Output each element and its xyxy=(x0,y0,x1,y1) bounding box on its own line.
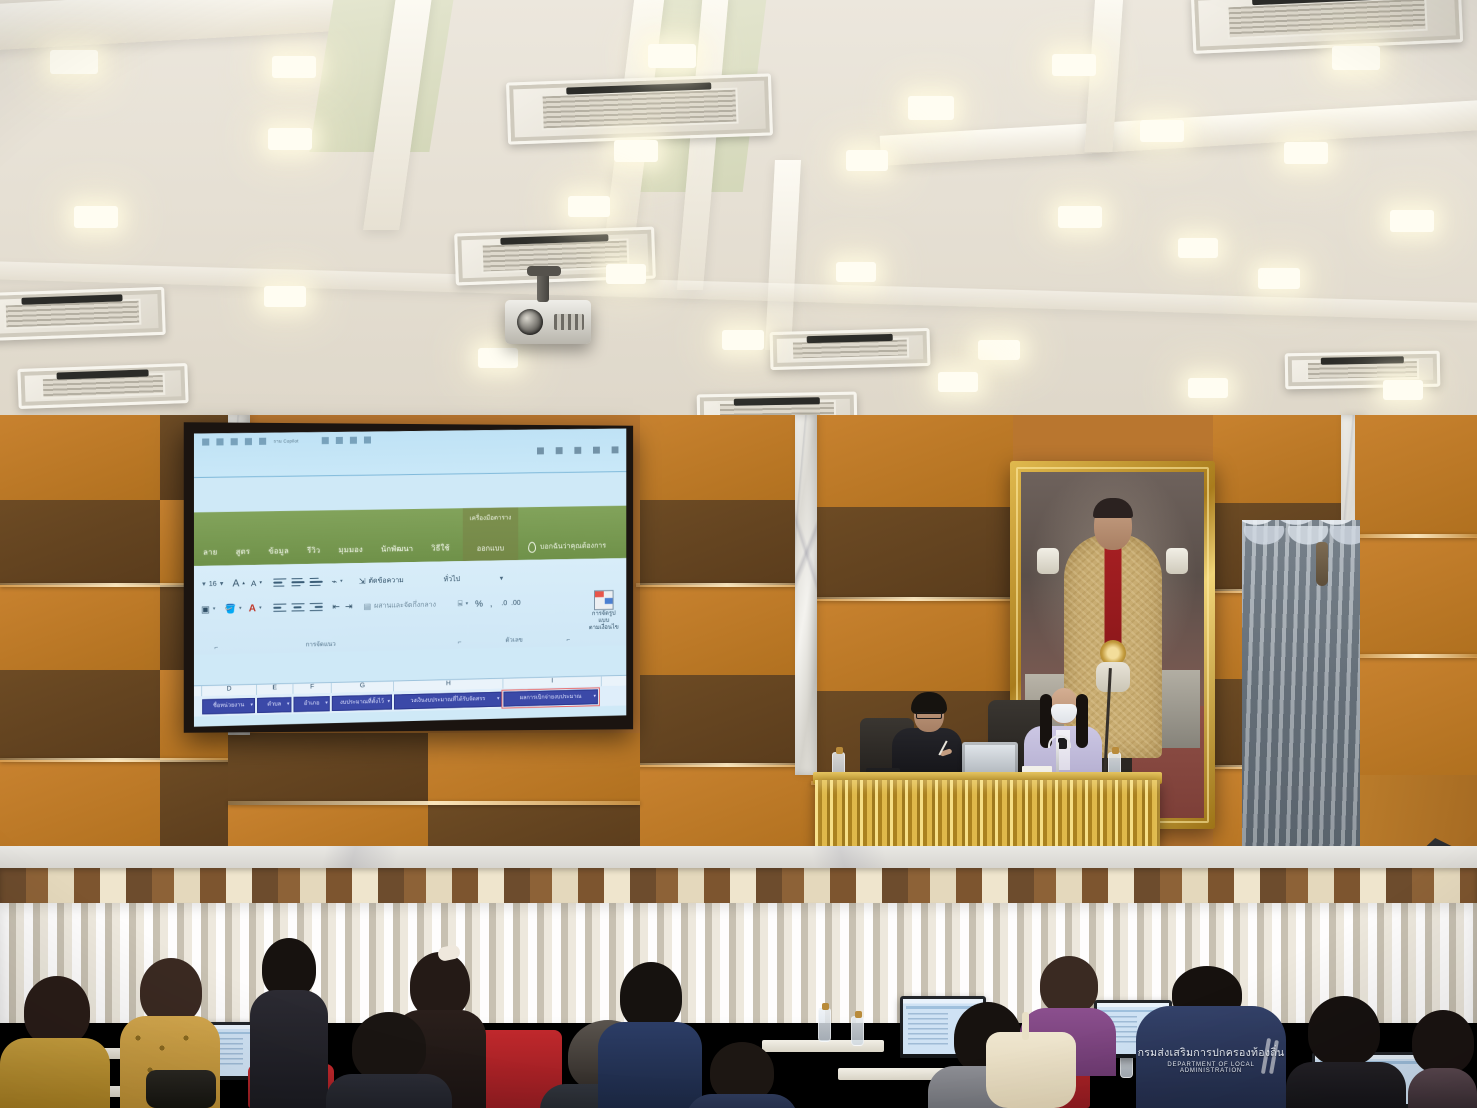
attendee xyxy=(250,938,328,1108)
attendee xyxy=(1408,1010,1477,1108)
presenter-left-hair xyxy=(911,692,947,714)
merge-center-label: ผสานและจัดกึ่งกลาง xyxy=(374,599,436,611)
attendee-head xyxy=(410,952,470,1018)
uniform-thai-label: กรมส่งเสริมการปกครองท้องถิ่น xyxy=(1136,1044,1286,1061)
stage-tile-border xyxy=(0,868,1477,906)
marble-column xyxy=(795,415,817,775)
decrease-decimal-icon[interactable]: .00 xyxy=(511,599,521,606)
font-size-value: 16 xyxy=(209,580,217,587)
tab-design[interactable]: ออกแบบ xyxy=(477,542,504,554)
conditional-formatting-icon xyxy=(594,590,614,610)
autosave-icon[interactable] xyxy=(202,438,209,445)
undo-icon[interactable] xyxy=(231,438,238,445)
attendee xyxy=(326,1012,452,1108)
excel-ribbon-body[interactable]: ▾ 16 ▾ A▴ A▾ ⌁▾ ⇲ ตัดข้อความ ทั่ว xyxy=(194,558,626,655)
settings-icon[interactable] xyxy=(612,446,619,453)
ac-vent-icon xyxy=(770,328,931,370)
attendee xyxy=(1286,996,1406,1108)
cf-label-line2: ตามเงื่อนไข xyxy=(587,624,620,632)
table-tools-label: เครื่องมือตาราง xyxy=(470,512,512,523)
attendee-head xyxy=(140,958,202,1024)
handbag xyxy=(146,1070,216,1108)
tab-developer[interactable]: นักพัฒนา xyxy=(372,543,422,563)
tab-layout[interactable]: ลาย xyxy=(194,546,227,566)
attendee-shoulders xyxy=(250,990,328,1108)
wrap-text-label: ตัดข้อความ xyxy=(368,575,403,587)
border-icon[interactable]: ▣▾ xyxy=(201,604,215,615)
shrink-font-icon[interactable]: A▾ xyxy=(251,578,262,587)
projection-screen-frame: ถาม Copilot ลาย สูตร ข้อมูล xyxy=(184,422,633,733)
attendee-head xyxy=(1412,1010,1474,1074)
curtain-tassel-icon xyxy=(1316,542,1328,586)
align-bottom-icon[interactable] xyxy=(310,576,323,589)
comma-style-icon[interactable]: , xyxy=(490,598,492,608)
gooseneck-microphone xyxy=(1056,742,1059,776)
tell-me-label: บอกฉันว่าคุณต้องการ xyxy=(540,541,606,553)
decrease-indent-icon[interactable]: ⇤ xyxy=(332,601,340,612)
cut-icon[interactable] xyxy=(322,437,329,444)
paste-icon[interactable] xyxy=(350,437,357,444)
search-icon[interactable] xyxy=(537,447,544,454)
styles-group-label: ⌐ xyxy=(567,636,571,643)
attendee-shoulders xyxy=(326,1074,452,1108)
attendee-head xyxy=(620,962,682,1030)
number-format-dropdown[interactable]: ทั่วไป xyxy=(444,574,460,585)
table-header-cell[interactable]: วงเงินงบประมาณที่ได้รับจัดสรร xyxy=(394,691,501,709)
presenter-left xyxy=(890,692,964,782)
attendee-shoulders xyxy=(686,1094,798,1108)
tell-me-search[interactable]: บอกฉันว่าคุณต้องการ xyxy=(528,541,606,560)
conference-room-scene: ถาม Copilot ลาย สูตร ข้อมูล xyxy=(0,0,1477,1108)
tab-help[interactable]: วิธีใช้ xyxy=(422,542,458,562)
grow-font-icon[interactable]: A▴ xyxy=(232,578,244,589)
water-bottle xyxy=(851,1016,864,1046)
ac-vent-icon xyxy=(0,287,166,341)
cf-label-line1: การจัดรูปแบบ xyxy=(587,611,620,626)
ac-vent-icon xyxy=(17,363,188,409)
attendee-head xyxy=(710,1042,774,1102)
increase-decimal-icon[interactable]: .0 xyxy=(501,600,507,607)
eyeglasses-icon xyxy=(916,712,942,719)
projector-lens-icon xyxy=(517,309,543,335)
titlebar-right-icons[interactable] xyxy=(537,446,618,454)
fullscreen-icon[interactable] xyxy=(593,447,600,454)
table-header-cell[interactable]: งบประมาณที่ตั้งไว้ xyxy=(332,694,392,711)
orientation-icon[interactable]: ⌁▾ xyxy=(332,576,343,587)
touch-mode-icon[interactable] xyxy=(259,438,266,445)
ac-vent-icon xyxy=(506,73,773,144)
handbag-strap xyxy=(1022,1012,1029,1040)
attendee xyxy=(0,976,110,1108)
portrait-epaulette xyxy=(1166,548,1188,574)
uniform-department-text: กรมส่งเสริมการปกครองท้องถิ่น DEPARTMENT … xyxy=(1136,1044,1286,1074)
increase-indent-icon[interactable]: ⇥ xyxy=(345,601,353,612)
tab-view[interactable]: มุมมอง xyxy=(329,544,371,564)
align-middle-icon[interactable] xyxy=(291,576,304,589)
merge-center-button[interactable]: ▤ ผสานและจัดกึ่งกลาง xyxy=(364,599,436,611)
curtain-alcove xyxy=(1242,520,1360,865)
attendee-head xyxy=(1040,956,1098,1014)
percent-style-icon[interactable]: % xyxy=(475,599,483,609)
table-header-cell-selected[interactable]: ผลการเบิกจ่ายงบประมาณ xyxy=(503,689,597,706)
curtain-swag xyxy=(1242,526,1360,596)
alignment-group-label: การจัดแนว xyxy=(306,639,336,650)
font-group-label: ⌐ xyxy=(214,644,218,651)
attendee xyxy=(686,1042,798,1108)
align-left-icon[interactable] xyxy=(273,601,286,614)
portrait-epaulette xyxy=(1037,548,1059,574)
table-header-cell[interactable]: อำเภอ xyxy=(293,696,329,712)
attendee-head xyxy=(24,976,90,1046)
attendee-shoulders xyxy=(1408,1068,1477,1108)
projector-vent-icon xyxy=(554,314,584,330)
water-bottle xyxy=(818,1008,831,1042)
font-size-box[interactable]: ▾ 16 ▾ xyxy=(202,580,223,588)
ceiling-projector xyxy=(505,300,591,344)
quick-access-toolbar[interactable]: ถาม Copilot xyxy=(202,437,371,446)
number-format-value: ทั่วไป xyxy=(444,574,460,585)
align-right-icon[interactable] xyxy=(309,601,322,614)
copilot-label[interactable]: ถาม Copilot xyxy=(273,437,298,444)
font-color-icon[interactable]: A▾ xyxy=(249,603,262,614)
accounting-format-icon[interactable]: ⌸▾ xyxy=(458,599,468,609)
excel-ribbon-tabs[interactable]: ลาย สูตร ข้อมูล รีวิว มุมมอง นักพัฒนา วิ… xyxy=(194,506,626,566)
table-tools-group[interactable]: เครื่องมือตาราง ออกแบบ xyxy=(463,507,519,561)
handbag xyxy=(986,1032,1076,1108)
conditional-formatting-button[interactable]: การจัดรูปแบบ ตามเงื่อนไข xyxy=(587,590,620,632)
wrap-text-button[interactable]: ⇲ ตัดข้อความ xyxy=(359,575,404,587)
save-icon[interactable] xyxy=(216,438,223,445)
uniform-english-label: DEPARTMENT OF LOCAL ADMINISTRATION xyxy=(1136,1062,1286,1074)
tab-formulas[interactable]: สูตร xyxy=(227,546,260,566)
attendee-uniform: กรมส่งเสริมการปกครองท้องถิ่น DEPARTMENT … xyxy=(1136,966,1286,1108)
projected-excel-window[interactable]: ถาม Copilot ลาย สูตร ข้อมูล xyxy=(194,428,626,726)
table-header-cell[interactable]: ตำบล xyxy=(257,697,291,713)
stage-marble-strip xyxy=(0,846,1477,870)
excel-title-bar: ถาม Copilot xyxy=(194,428,626,478)
number-group-caption: ตัวเลข xyxy=(505,635,522,645)
tab-data[interactable]: ข้อมูล xyxy=(259,545,298,565)
presenter-right-hair-right xyxy=(1076,694,1088,748)
attendee-head xyxy=(262,938,316,998)
lightbulb-icon xyxy=(528,542,536,553)
attendee-shoulders xyxy=(0,1038,110,1108)
share-icon[interactable] xyxy=(574,447,581,454)
comments-icon[interactable] xyxy=(556,447,563,454)
redo-icon[interactable] xyxy=(245,438,252,445)
right-side-wall xyxy=(1355,415,1477,885)
tab-review[interactable]: รีวิว xyxy=(298,544,329,564)
table-header-cell[interactable]: ชื่อหน่วยงาน xyxy=(202,697,255,713)
format-painter-icon[interactable] xyxy=(364,437,371,444)
copy-icon[interactable] xyxy=(336,437,343,444)
ceiling xyxy=(0,0,1477,435)
attendee-shoulders xyxy=(1286,1062,1406,1108)
align-top-icon[interactable] xyxy=(273,576,286,589)
attendee-head xyxy=(352,1012,426,1082)
ac-vent-icon xyxy=(1191,0,1463,54)
number-format-chevron-icon[interactable]: ▾ xyxy=(500,574,503,582)
align-center-icon[interactable] xyxy=(291,601,304,614)
fill-color-icon[interactable]: 🪣▾ xyxy=(225,603,242,614)
number-group-label: ⌐ xyxy=(458,639,462,646)
